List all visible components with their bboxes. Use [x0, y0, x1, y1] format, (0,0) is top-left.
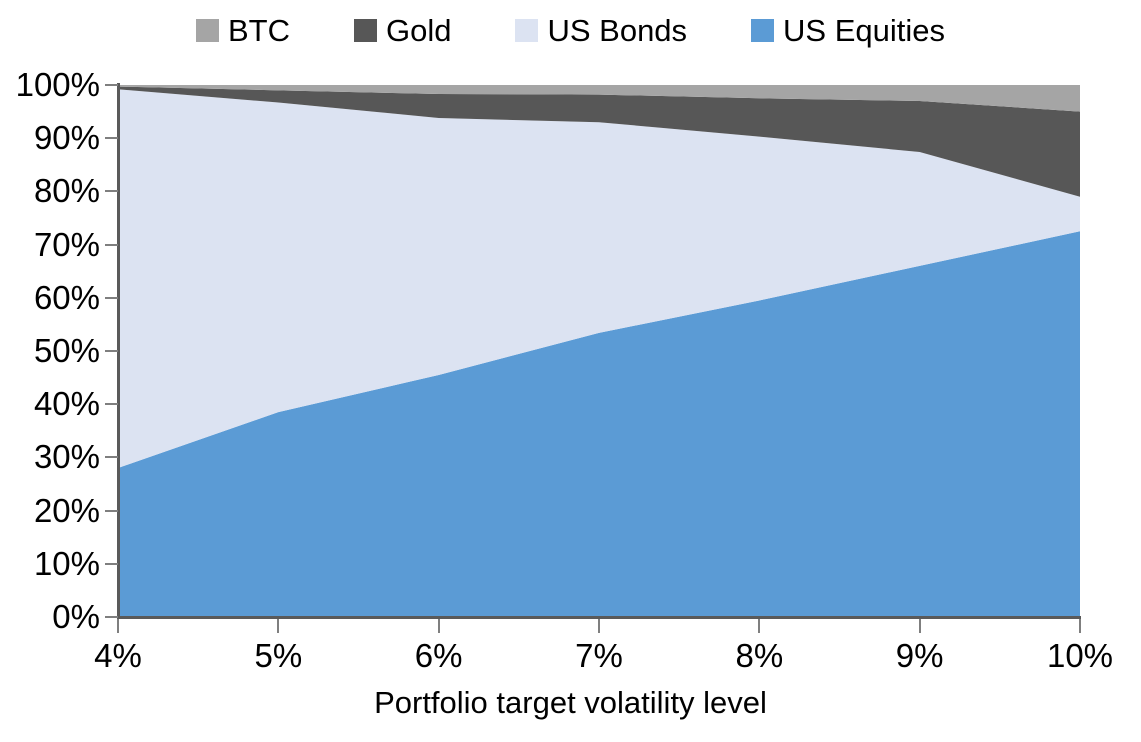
- y-axis-tick-label: 70%: [0, 228, 108, 261]
- legend-swatch-btc: [196, 19, 219, 42]
- x-axis-tick-label: 7%: [539, 638, 659, 674]
- legend-item-btc: BTC: [196, 15, 290, 46]
- y-axis-tick-label: 80%: [0, 174, 108, 207]
- chart-legend: BTC Gold US Bonds US Equities: [0, 8, 1141, 52]
- legend-item-us-equities: US Equities: [751, 15, 945, 46]
- legend-item-us-bonds: US Bonds: [515, 15, 687, 46]
- x-axis-tick: [598, 619, 600, 633]
- legend-item-gold: Gold: [354, 15, 451, 46]
- x-axis-title: Portfolio target volatility level: [0, 686, 1141, 720]
- legend-swatch-us-bonds: [515, 19, 538, 42]
- y-axis-labels: 100%90%80%70%60%50%40%30%20%10%0%: [0, 0, 100, 742]
- x-axis-tick: [1079, 619, 1081, 633]
- x-axis-tick-label: 9%: [860, 638, 980, 674]
- legend-swatch-us-equities: [751, 19, 774, 42]
- x-axis-tick-label: 4%: [58, 638, 178, 674]
- legend-label-btc: BTC: [228, 15, 290, 46]
- y-axis-tick-label: 90%: [0, 121, 108, 154]
- y-axis-tick-label: 20%: [0, 494, 108, 527]
- plot-area: [118, 85, 1080, 617]
- y-axis-tick-label: 10%: [0, 547, 108, 580]
- x-axis-tick-label: 5%: [218, 638, 338, 674]
- x-axis-tick: [758, 619, 760, 633]
- y-axis-tick-label: 0%: [0, 600, 108, 633]
- legend-label-us-equities: US Equities: [783, 15, 945, 46]
- x-axis-tick-label: 6%: [379, 638, 499, 674]
- x-axis-tick: [277, 619, 279, 633]
- x-axis-tick: [117, 619, 119, 633]
- legend-label-us-bonds: US Bonds: [547, 15, 687, 46]
- x-axis-tick-label: 10%: [1020, 638, 1140, 674]
- legend-swatch-gold: [354, 19, 377, 42]
- y-axis-tick-label: 30%: [0, 440, 108, 473]
- stacked-area-chart: BTC Gold US Bonds US Equities 100%90%80%…: [0, 0, 1141, 742]
- y-axis-tick-label: 60%: [0, 281, 108, 314]
- y-axis-tick-label: 40%: [0, 387, 108, 420]
- area-series-svg: [118, 85, 1080, 617]
- x-axis-tick: [438, 619, 440, 633]
- legend-label-gold: Gold: [386, 15, 451, 46]
- y-axis-tick-label: 100%: [0, 68, 108, 101]
- x-axis-tick: [919, 619, 921, 633]
- x-axis-tick-label: 8%: [699, 638, 819, 674]
- y-axis-tick-label: 50%: [0, 334, 108, 367]
